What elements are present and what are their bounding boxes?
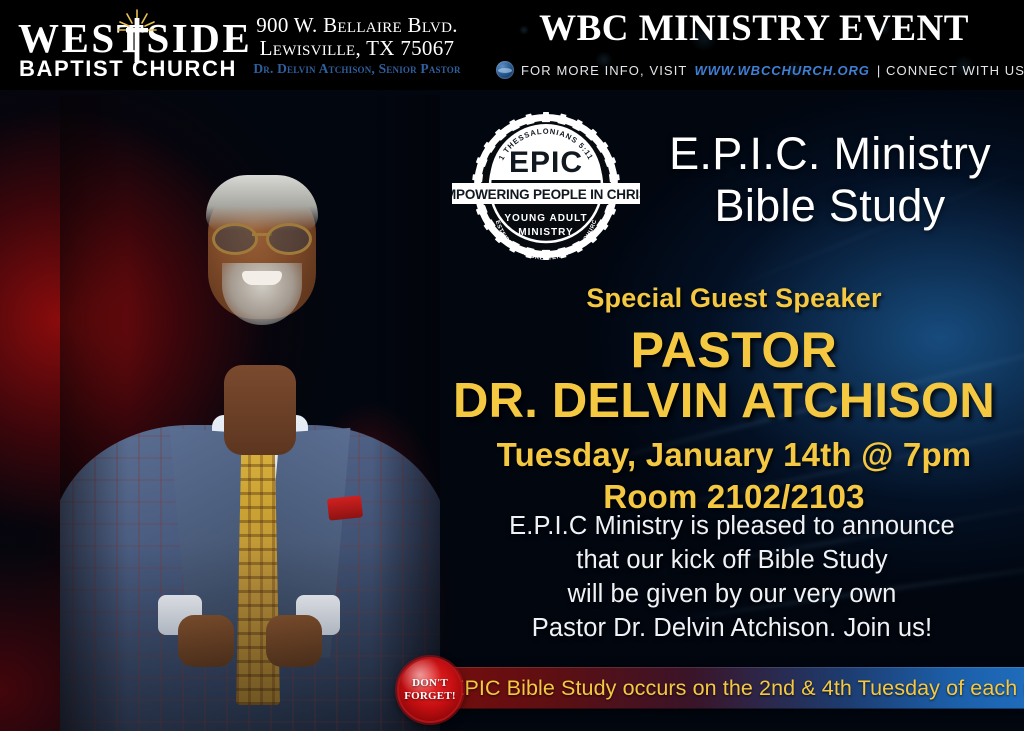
address-line-1: 900 W. Bellaire Blvd.	[232, 14, 482, 37]
description-line: Pastor Dr. Delvin Atchison. Join us!	[440, 612, 1024, 646]
title-line-2: Bible Study	[636, 180, 1024, 232]
reminder-banner: EPIC Bible Study occurs on the 2nd & 4th…	[418, 667, 1024, 709]
page-title: E.P.I.C. Ministry Bible Study	[636, 128, 1024, 232]
epic-badge-svg: 1 THESSALONIANS 5:11 EPIC EMPOWERING PEO…	[452, 104, 640, 269]
dont-forget-line-2: FORGET!	[404, 690, 456, 703]
address-line-2: Lewisville, TX 75067	[232, 37, 482, 60]
speaker-name: DR. DELVIN ATCHISON	[424, 375, 1024, 428]
badge-word: EPIC	[509, 146, 583, 179]
event-date-time: Tuesday, January 14th @ 7pm	[444, 434, 1024, 476]
website-link[interactable]: WWW.WBCCHURCH.ORG	[694, 63, 869, 78]
title-line-1: E.P.I.C. Ministry	[636, 128, 1024, 180]
hand-right	[266, 615, 322, 667]
dont-forget-line-1: DON'T	[412, 677, 448, 690]
contact-info-row: FOR MORE INFO, VISIT WWW.WBCCHURCH.ORG |…	[496, 58, 1010, 82]
info-suffix: | CONNECT WITH US	[877, 63, 1024, 78]
reminder-text: EPIC Bible Study occurs on the 2nd & 4th…	[450, 676, 1024, 701]
speaker-title: PASTOR	[444, 323, 1024, 377]
pocket-square	[327, 495, 363, 520]
badge-sub2: MINISTRY	[518, 227, 573, 238]
globe-icon	[496, 61, 514, 79]
badge-sub1: YOUNG ADULT	[504, 213, 587, 224]
lens-right	[266, 223, 312, 255]
senior-pastor-line: Dr. Delvin Atchison, Senior Pastor	[232, 59, 482, 79]
info-prefix: FOR MORE INFO, VISIT	[521, 63, 687, 78]
eyeglasses-icon	[212, 223, 312, 249]
flyer-canvas: 1 THESSALONIANS 5:11 EPIC EMPOWERING PEO…	[0, 0, 1024, 731]
smile	[242, 271, 282, 285]
guest-speaker-label: Special Guest Speaker	[444, 283, 1024, 314]
neck	[224, 365, 296, 455]
epic-logo-badge: 1 THESSALONIANS 5:11 EPIC EMPOWERING PEO…	[452, 104, 640, 269]
pastor-portrait	[60, 95, 440, 731]
badge-tagline: EMPOWERING PEOPLE IN CHRIST	[452, 187, 640, 202]
dont-forget-badge: DON'T FORGET!	[397, 657, 463, 723]
event-description: E.P.I.C Ministry is pleased to announce …	[440, 510, 1024, 646]
event-banner-title: WBC MINISTRY EVENT	[500, 10, 1008, 47]
description-line: will be given by our very own	[440, 578, 1024, 612]
cross-starburst-icon	[116, 8, 158, 64]
necktie	[236, 445, 280, 705]
church-address: 900 W. Bellaire Blvd. Lewisville, TX 750…	[232, 14, 482, 80]
description-line: E.P.I.C Ministry is pleased to announce	[440, 510, 1024, 544]
church-logo[interactable]: WESTSIDE BAPTIST CHURCH	[18, 6, 238, 84]
hand-left	[178, 615, 234, 667]
event-schedule: Tuesday, January 14th @ 7pm Room 2102/21…	[444, 434, 1024, 518]
header-bar: WESTSIDE BAPTIST CHURCH 900 W. Bellaire …	[0, 0, 1024, 90]
lens-left	[212, 223, 258, 255]
description-line: that our kick off Bible Study	[440, 544, 1024, 578]
